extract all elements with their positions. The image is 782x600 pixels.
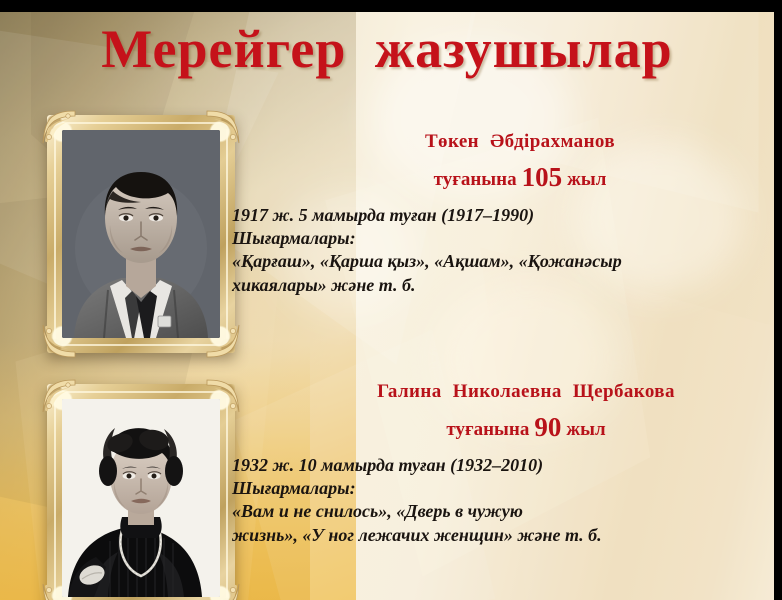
anniversary-suffix: жыл	[567, 169, 606, 190]
works-line: хикаялары» және т. б.	[232, 274, 772, 297]
poster-title: Мерейгер жазушылар	[0, 22, 774, 76]
works-line: жизнь», «У ног лежачих женщин» және т. б…	[232, 524, 772, 547]
works-label: Шығармалары:	[232, 227, 772, 250]
anniversary-number: 105	[517, 162, 568, 192]
anniversary-suffix: жыл	[566, 419, 605, 440]
poster-stage: Мерейгер жазушылар	[0, 12, 774, 600]
portrait-photo-man	[62, 130, 220, 338]
entry-text-block-2: Галина Николаевна Щербакова туғанына90жы…	[232, 380, 772, 547]
entry-body-1: 1917 ж. 5 мамырда туған (1917–1990) Шыға…	[232, 204, 772, 298]
portrait-photo-woman	[62, 399, 220, 597]
anniversary-prefix: туғанына	[434, 169, 517, 190]
works-label: Шығармалары:	[232, 477, 772, 500]
poster-slide: Мерейгер жазушылар	[0, 0, 782, 600]
entry-heading-2: Галина Николаевна Щербакова туғанына90жы…	[232, 380, 772, 445]
author-name: Галина Николаевна Щербакова	[280, 380, 772, 404]
author-name: Төкен Әбдірахманов	[268, 130, 772, 154]
anniversary-number: 90	[529, 412, 566, 442]
works-line: «Вам и не снилось», «Дверь в чужую	[232, 500, 772, 523]
birth-line: 1917 ж. 5 мамырда туған (1917–1990)	[232, 204, 772, 227]
anniversary-line: туғанына105жыл	[268, 161, 772, 195]
anniversary-line: туғанына90жыл	[280, 411, 772, 445]
birth-line: 1932 ж. 10 мамырда туған (1932–2010)	[232, 454, 772, 477]
entry-heading-1: Төкен Әбдірахманов туғанына105жыл	[232, 130, 772, 195]
portrait-frame-galinascherbakova	[47, 384, 235, 600]
anniversary-prefix: туғанына	[446, 419, 529, 440]
entry-body-2: 1932 ж. 10 мамырда туған (1932–2010) Шығ…	[232, 454, 772, 548]
portrait-frame-tokenabdirahmanov	[47, 115, 235, 353]
works-line: «Қарғаш», «Қарша қыз», «Ақшам», «Қожанәс…	[232, 250, 772, 273]
entry-text-block-1: Төкен Әбдірахманов туғанына105жыл 1917 ж…	[232, 130, 772, 297]
